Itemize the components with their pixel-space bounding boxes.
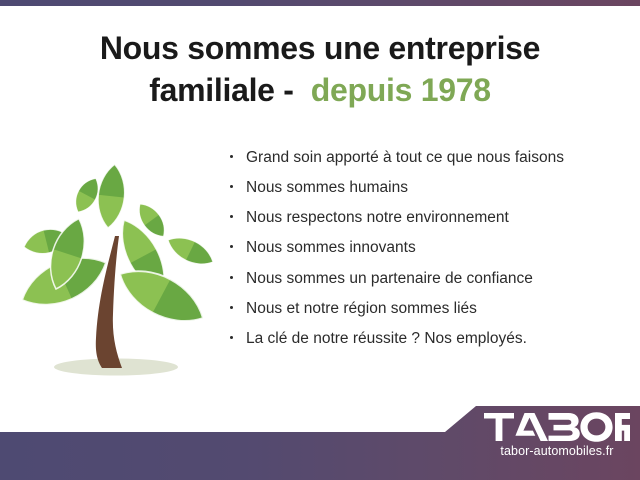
tree-trunk [96, 236, 122, 368]
bullet-dot-icon [230, 306, 233, 309]
list-item-label: Nous sommes humains [246, 179, 408, 196]
bullet-dot-icon [230, 276, 233, 279]
leaf-mid-right [161, 226, 217, 278]
list-item-label: Grand soin apporté à tout ce que nous fa… [246, 149, 564, 166]
tabor-wordmark-icon [484, 412, 630, 442]
headline-line-2: familiale - depuis 1978 [0, 70, 640, 112]
list-item: Grand soin apporté à tout ce que nous fa… [228, 148, 628, 168]
bullet-dot-icon [230, 245, 233, 248]
list-item-label: Nous et notre région sommes liés [246, 300, 477, 317]
list-item: Nous sommes innovants [228, 238, 628, 258]
bullet-dot-icon [230, 215, 233, 218]
list-item-label: La clé de notre réussite ? Nos employés. [246, 330, 527, 347]
bullet-dot-icon [230, 155, 233, 158]
list-item: Nous sommes humains [228, 178, 628, 198]
list-item: Nous respectons notre environnement [228, 208, 628, 228]
brand-logo[interactable]: TABOR tabor-automobiles.fr [484, 412, 630, 458]
list-item-label: Nous respectons notre environnement [246, 209, 509, 226]
top-accent-strip [0, 0, 640, 6]
page-title: Nous sommes une entreprise familiale - d… [0, 28, 640, 111]
brand-website-url[interactable]: tabor-automobiles.fr [484, 444, 630, 458]
brand-name-text: TABOR [557, 442, 558, 443]
bullet-dot-icon [230, 185, 233, 188]
tree-illustration [12, 152, 217, 387]
list-item: Nous et notre région sommes liés [228, 299, 628, 319]
list-item-label: Nous sommes innovants [246, 239, 416, 256]
headline-line-1: Nous sommes une entreprise [0, 28, 640, 70]
headline-line-2-plain: familiale - [149, 72, 311, 108]
bullet-dot-icon [230, 336, 233, 339]
tree-illustration-svg [12, 152, 217, 387]
slide-canvas: Nous sommes une entreprise familiale - d… [0, 0, 640, 480]
headline-accent-since-1978: depuis 1978 [311, 72, 491, 108]
value-bullet-list: Grand soin apporté à tout ce que nous fa… [228, 148, 628, 359]
list-item: La clé de notre réussite ? Nos employés. [228, 329, 628, 349]
footer-brand-bar: TABOR tabor-automobiles.fr [0, 404, 640, 480]
list-item: Nous sommes un partenaire de confiance [228, 269, 628, 289]
list-item-label: Nous sommes un partenaire de confiance [246, 270, 533, 287]
